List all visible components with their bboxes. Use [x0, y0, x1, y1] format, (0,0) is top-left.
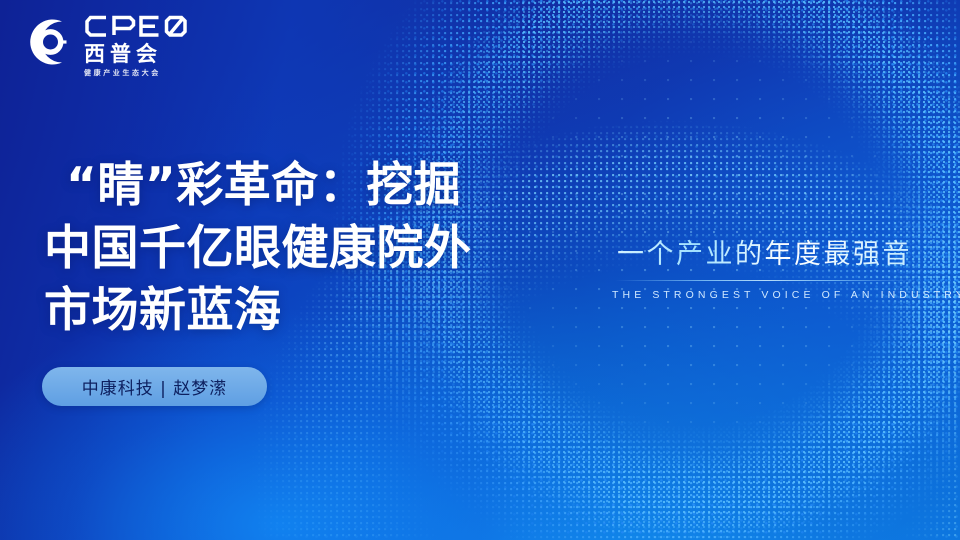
- headline-line-3: 市场新蓝海: [44, 280, 564, 342]
- slogan-english: THE STRONGEST VOICE OF AN INDUSTRY: [612, 289, 917, 301]
- bottom-glow-overlay: [0, 310, 620, 540]
- brand-chinese-name: 西普会: [84, 44, 188, 65]
- brand-logo-text: 西普会 健康产业生态大会: [84, 12, 188, 77]
- headline-line-2: 中国千亿眼健康院外: [44, 218, 564, 280]
- slogan-divider: [615, 280, 915, 281]
- slogan-chinese: 一个产业的年度最强音: [612, 232, 917, 271]
- brand-sub-tagline: 健康产业生态大会: [84, 70, 188, 77]
- speaker-badge-label: 中康科技 | 赵梦潆: [82, 374, 228, 399]
- headline-line-1: “睛”彩革命：挖掘: [44, 155, 564, 217]
- brand-logo: 西普会 健康产业生态大会: [22, 12, 188, 77]
- slide-headline: “睛”彩革命：挖掘 中国千亿眼健康院外 市场新蓝海: [44, 155, 564, 341]
- presentation-slide: 西普会 健康产业生态大会 “睛”彩革命：挖掘 中国千亿眼健康院外 市场新蓝海 中…: [0, 0, 960, 540]
- brand-latin-name: [84, 12, 188, 41]
- speaker-badge: 中康科技 | 赵梦潆: [42, 367, 267, 406]
- cpeo-circle-logo-icon: [22, 14, 76, 75]
- event-slogan: 一个产业的年度最强音 THE STRONGEST VOICE OF AN IND…: [612, 232, 917, 301]
